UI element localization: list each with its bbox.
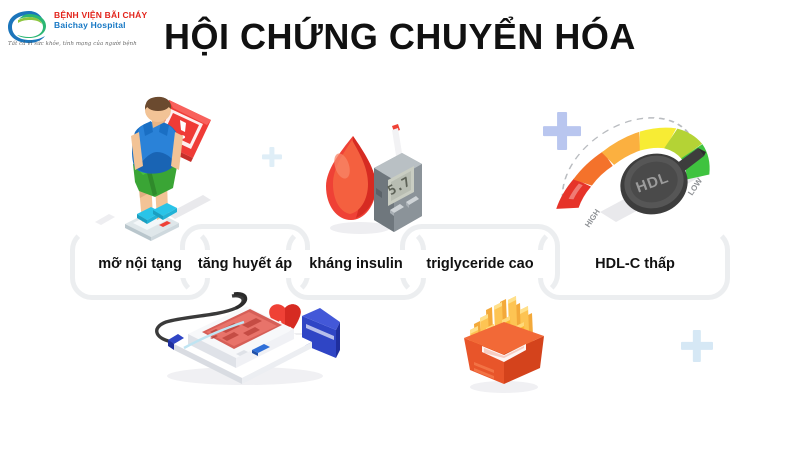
obese-man-on-scale-illustration bbox=[95, 96, 225, 236]
chain-label-mo-noi-tang[interactable]: mỡ nội tạng bbox=[78, 250, 202, 278]
chain-label-tang-huyet-ap[interactable]: tăng huyết áp bbox=[188, 250, 302, 278]
plus-large-bottom-icon bbox=[681, 330, 713, 362]
infographic-canvas: BỆNH VIỆN BÃI CHÁY Baichay Hospital Tất … bbox=[0, 0, 800, 450]
chain-label-text: kháng insulin bbox=[309, 256, 402, 272]
gauge-left-label: HIGH bbox=[583, 207, 602, 229]
chain-label-text: mỡ nội tạng bbox=[98, 256, 182, 272]
blood-drop-glucometer-illustration: 5.7 bbox=[316, 118, 428, 238]
blood-pressure-monitor-illustration bbox=[140, 288, 340, 388]
page-title: HỘI CHỨNG CHUYỂN HÓA bbox=[0, 16, 800, 58]
hdl-gauge-illustration: HDL HIGH LOW bbox=[566, 104, 716, 239]
plus-small-center-icon bbox=[262, 147, 282, 167]
chain-label-khang-insulin[interactable]: kháng insulin bbox=[296, 250, 416, 278]
chain-label-triglyceride-cao[interactable]: triglyceride cao bbox=[410, 250, 550, 278]
chain-label-hdl-c-thap[interactable]: HDL-C thấp bbox=[560, 250, 710, 278]
french-fries-illustration bbox=[448, 284, 558, 396]
chain-label-text: tăng huyết áp bbox=[198, 256, 292, 272]
chain-label-text: triglyceride cao bbox=[426, 256, 533, 272]
chain-label-text: HDL-C thấp bbox=[595, 256, 675, 272]
